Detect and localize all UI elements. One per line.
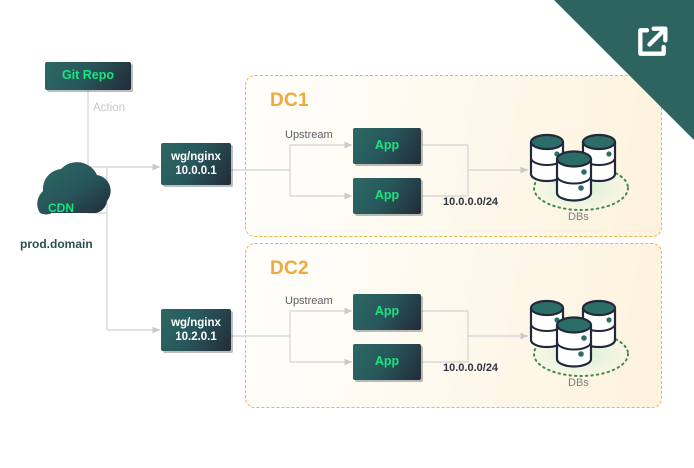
cdn-domain-caption: prod.domain	[20, 237, 93, 251]
architecture-diagram: DC1 DC2	[0, 0, 694, 468]
db-cluster-dc2	[531, 301, 628, 376]
git-repo-label: Git Repo	[62, 68, 114, 84]
db-label-dc1: DBs	[568, 211, 589, 223]
gateway-1-address: 10.0.0.1	[175, 164, 217, 178]
db-cluster-dc1	[531, 135, 628, 210]
cdn-label: CDN	[48, 201, 74, 215]
app-label: App	[375, 188, 399, 204]
app-node-dc1-2[interactable]: App	[353, 178, 421, 214]
action-edge-label: Action	[93, 102, 125, 114]
network-label-dc2: 10.0.0.0/24	[443, 362, 498, 374]
db-label-dc2: DBs	[568, 377, 589, 389]
app-node-dc2-1[interactable]: App	[353, 294, 421, 330]
gateway-node-2[interactable]: wg/nginx 10.2.0.1	[161, 309, 231, 351]
gateway-1-name: wg/nginx	[171, 150, 221, 164]
upstream-label-dc1: Upstream	[285, 129, 333, 141]
app-label: App	[375, 354, 399, 370]
upstream-label-dc2: Upstream	[285, 295, 333, 307]
app-node-dc1-1[interactable]: App	[353, 128, 421, 164]
corner-ribbon	[554, 0, 694, 140]
network-label-dc1: 10.0.0.0/24	[443, 196, 498, 208]
gateway-2-address: 10.2.0.1	[175, 330, 217, 344]
app-label: App	[375, 138, 399, 154]
git-repo-node[interactable]: Git Repo	[45, 62, 131, 90]
app-label: App	[375, 304, 399, 320]
gateway-node-1[interactable]: wg/nginx 10.0.0.1	[161, 143, 231, 185]
gateway-2-name: wg/nginx	[171, 316, 221, 330]
app-node-dc2-2[interactable]: App	[353, 344, 421, 380]
external-link-icon[interactable]	[632, 22, 672, 62]
